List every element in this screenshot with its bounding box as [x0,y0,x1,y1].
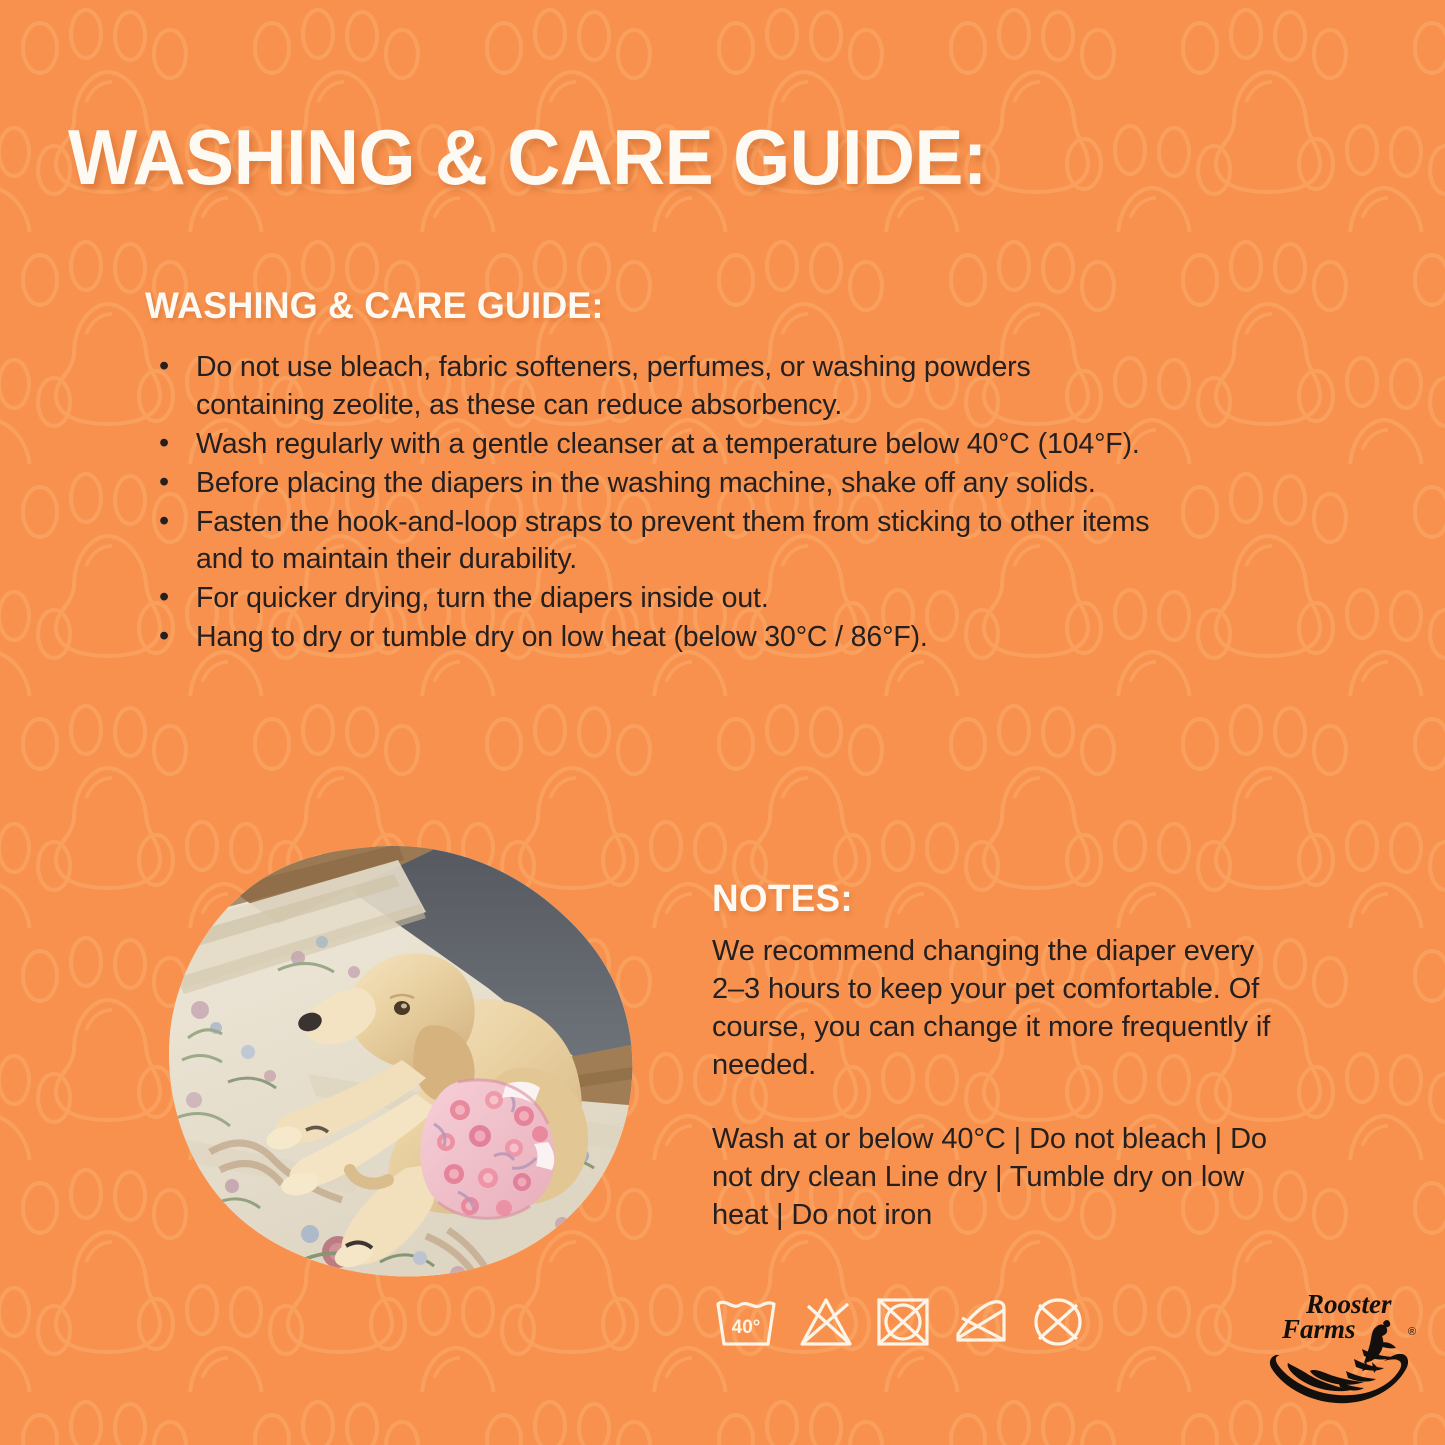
care-instructions-text: Wash at or below 40°C | Do not bleach | … [712,1121,1282,1235]
logo-line-2: Farms [1281,1314,1356,1344]
notes-section: NOTES: We recommend changing the diaper … [712,878,1282,1235]
do-not-iron-icon [950,1294,1012,1350]
care-symbols-row: 40° [714,1294,1086,1350]
wash-40-icon: 40° [714,1294,778,1350]
washing-care-bullet-list: Do not use bleach, fabric softeners, per… [145,349,1155,657]
field-furrows-icon [1270,1349,1408,1403]
list-item: Hang to dry or tumble dry on low heat (b… [145,619,1155,657]
notes-heading: NOTES: [712,878,1265,921]
list-item: Fasten the hook-and-loop straps to preve… [145,504,1155,580]
washing-care-heading: WASHING & CARE GUIDE: [145,285,1125,327]
notes-recommendation-text: We recommend changing the diaper every 2… [712,933,1282,1085]
do-not-bleach-icon [796,1294,856,1350]
photo-content [158,838,640,1282]
registered-mark: ® [1408,1326,1416,1338]
poster-canvas: WASHING & CARE GUIDE: WASHING & CARE GUI… [0,0,1445,1445]
list-item: For quicker drying, turn the diapers ins… [145,580,1155,618]
dog-photo-frame [158,838,640,1282]
svg-text:40°: 40° [732,1317,761,1338]
do-not-tumble-dry-icon [874,1294,932,1350]
do-not-dry-clean-icon [1030,1294,1086,1350]
list-item: Wash regularly with a gentle cleanser at… [145,426,1155,464]
washing-care-section: WASHING & CARE GUIDE: Do not use bleach,… [145,285,1155,658]
page-title: WASHING & CARE GUIDE: [68,118,987,196]
rooster-farms-logo: Rooster Farms ® [1258,1283,1418,1411]
list-item: Before placing the diapers in the washin… [145,465,1155,503]
list-item: Do not use bleach, fabric softeners, per… [145,349,1155,425]
